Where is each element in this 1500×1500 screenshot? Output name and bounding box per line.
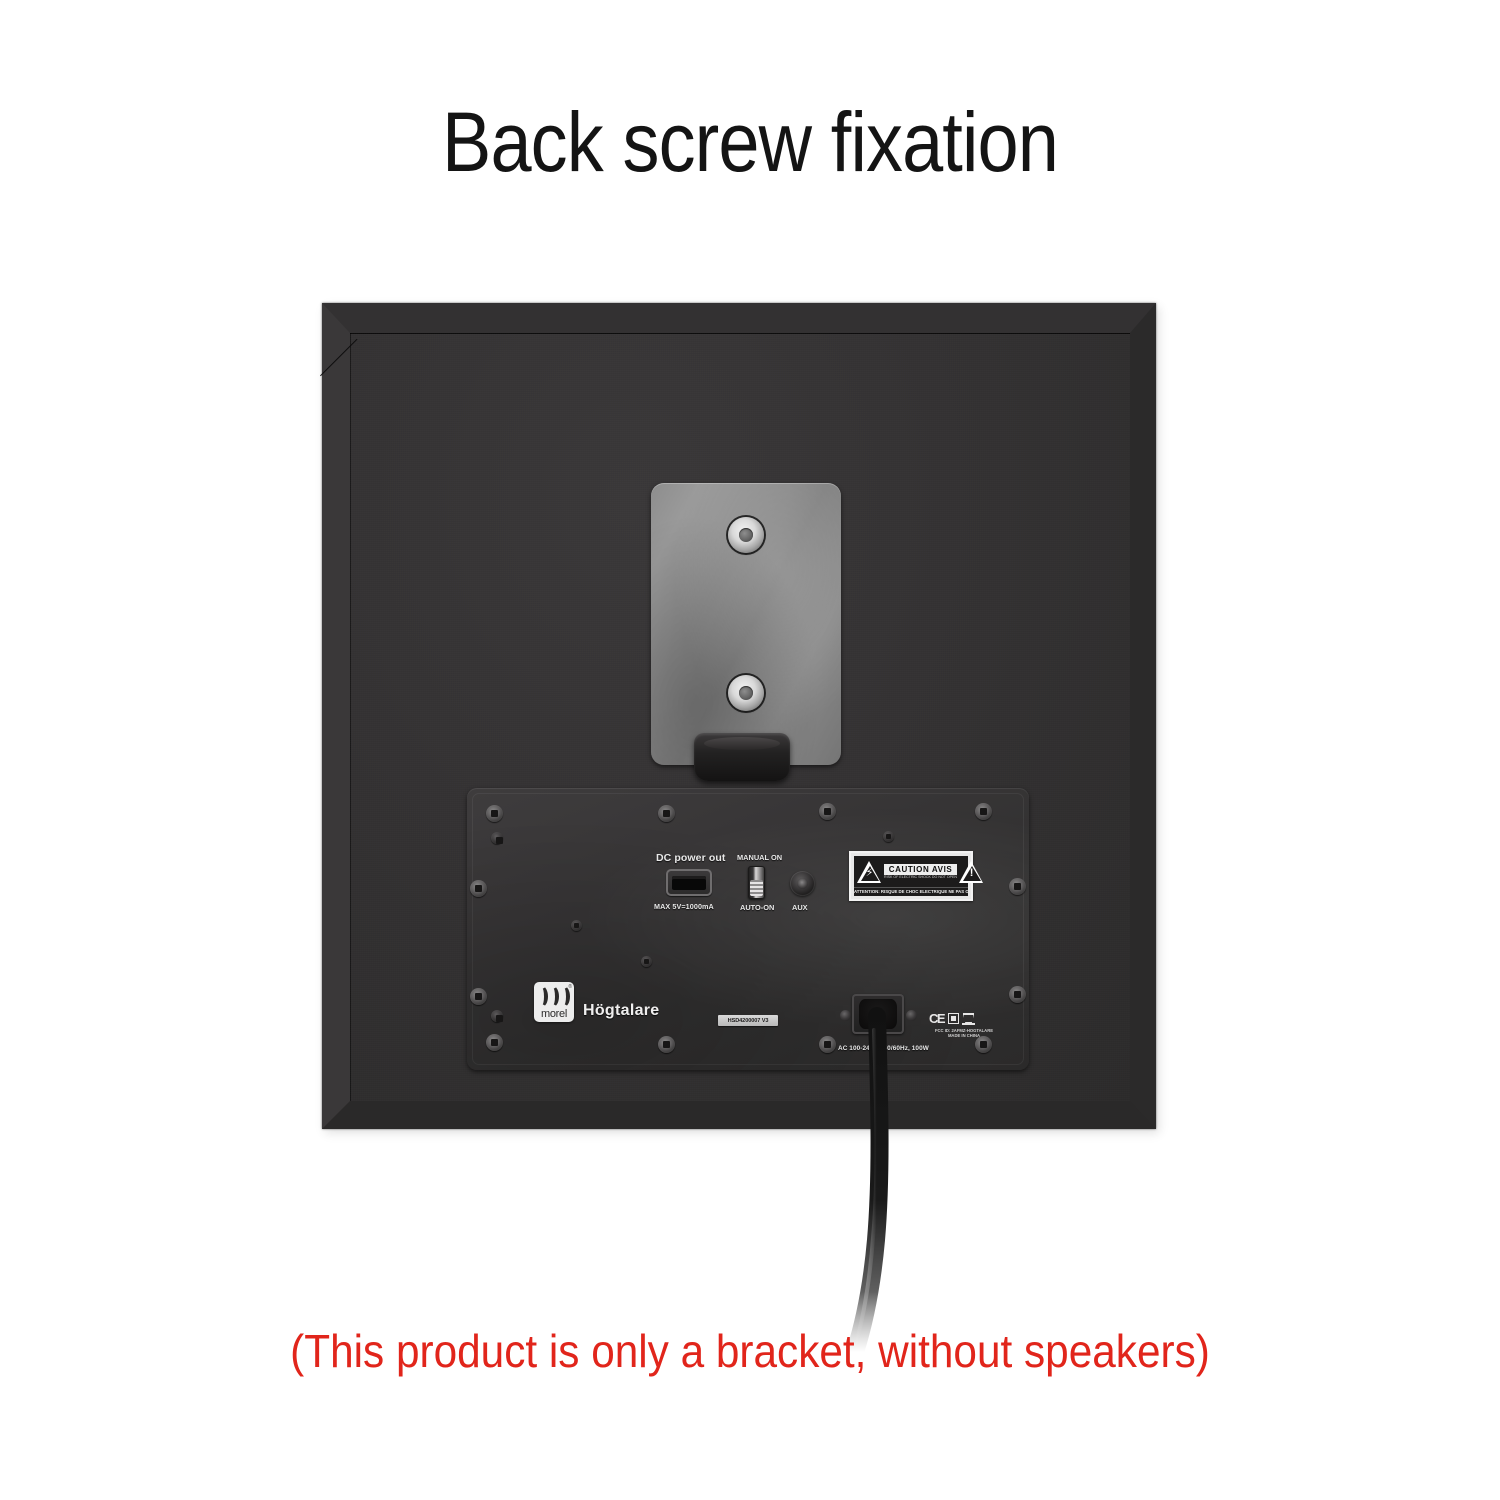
wall-mount-bracket-plate[interactable]	[651, 483, 841, 765]
amp-screw-tr1	[819, 803, 836, 820]
morel-wordmark: morel	[534, 1009, 574, 1020]
amp-screw-tr2	[975, 803, 992, 820]
ce-mark: CE	[929, 1012, 944, 1025]
bracket-ball-joint[interactable]	[694, 733, 790, 781]
amp-screw-ml	[470, 880, 487, 897]
caution-title: CAUTION AVIS	[884, 864, 957, 875]
amp-screw-bc2	[819, 1036, 836, 1053]
amp-screw-center-left	[571, 920, 582, 931]
iec-screw-left	[840, 1010, 851, 1021]
caution-footer: ATTENTION: RISQUE DE CHOC ELECTRIQUE NE …	[854, 887, 968, 896]
usb-dc-power-out-port[interactable]	[666, 869, 712, 896]
bracket-screw-top[interactable]	[728, 517, 764, 553]
model-serial-sticker: HSD4200007 V3	[718, 1015, 778, 1026]
made-in-line: MADE IN CHINA	[929, 1033, 999, 1038]
weee-bin-icon	[963, 1012, 974, 1025]
amp-screw-br	[1009, 986, 1026, 1003]
product-photo: DC power out MAX 5V=1000mA MANUAL ON AUT…	[0, 0, 1500, 1500]
auto-manual-toggle-switch[interactable]	[748, 866, 765, 899]
iec-screw-right	[906, 1010, 917, 1021]
amp-screw-tl2	[491, 832, 503, 844]
certification-marks: CE	[929, 1012, 991, 1025]
lightning-glyph: ⚡	[857, 868, 882, 879]
ac-rating-text: AC 100-240V~ 50/60Hz, 100W	[838, 1045, 929, 1052]
disclaimer-caption: (This product is only a bracket, without…	[60, 1326, 1440, 1377]
amp-screw-center	[641, 956, 652, 967]
aux-input-jack[interactable]	[790, 871, 815, 896]
series-name: Högtalare	[583, 1002, 660, 1020]
caution-label: ⚡ CAUTION AVIS RISK OF ELECTRIC SHOCK DO…	[849, 851, 973, 901]
amp-screw-bl2	[491, 1010, 503, 1022]
manual-on-label: MANUAL ON	[737, 853, 782, 862]
exclamation-warning-icon: !	[959, 861, 984, 883]
morel-logo: morel ®	[534, 982, 574, 1022]
dc-power-out-label: DC power out	[656, 852, 725, 864]
amp-screw-upper-mid	[883, 831, 894, 842]
caution-subtitle: RISK OF ELECTRIC SHOCK DO NOT OPEN	[884, 874, 957, 879]
auto-on-label: AUTO-ON	[740, 903, 774, 912]
morel-chevrons-icon	[538, 987, 570, 1006]
fcc-id-text: FCC ID: 2AFMZ-HOGTALARE MADE IN CHINA	[929, 1028, 999, 1039]
amp-screw-mr	[1009, 878, 1026, 895]
amp-screw-bc	[658, 1036, 675, 1053]
class-ii-mark	[948, 1013, 959, 1024]
lightning-bolt-warning-icon: ⚡	[857, 861, 882, 883]
amp-screw-bottom-left	[486, 1034, 503, 1051]
registered-mark: ®	[568, 984, 572, 990]
bracket-screw-bottom[interactable]	[728, 675, 764, 711]
dc-power-out-rating: MAX 5V=1000mA	[654, 902, 714, 911]
model-serial-text: HSD4200007 V3	[728, 1018, 769, 1024]
exclamation-glyph: !	[959, 868, 984, 879]
amp-screw-tc	[658, 805, 675, 822]
cabinet-mitre-joint	[322, 303, 382, 364]
amp-screw-bl	[470, 988, 487, 1005]
iec-ac-power-socket[interactable]	[852, 994, 904, 1034]
aux-label: AUX	[792, 903, 808, 912]
amp-screw-tl	[486, 805, 503, 822]
